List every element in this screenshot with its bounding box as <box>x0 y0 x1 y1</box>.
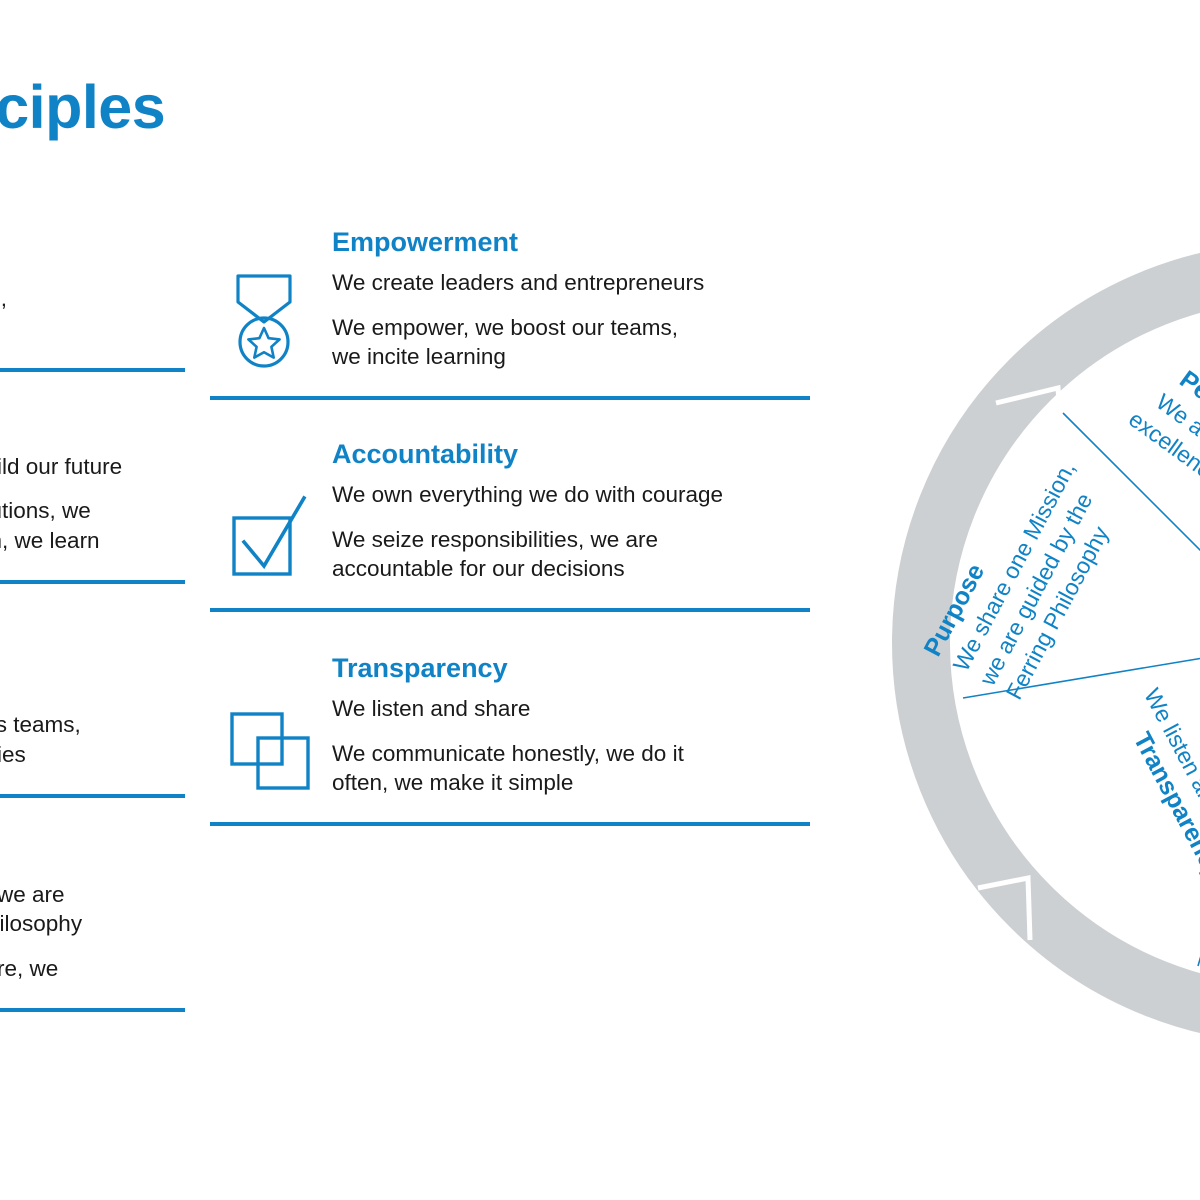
segment-purpose-sub-3: Ferring Philosophy <box>1001 522 1114 704</box>
left-block-2-line-2: olutions, we ion, we learn <box>0 496 185 555</box>
overlapping-squares-icon <box>224 698 320 798</box>
accountability-divider <box>210 608 810 612</box>
checkbox-check-icon <box>224 484 320 584</box>
segment-purpose-title: Purpose <box>919 559 991 661</box>
segment-performance-title: Performance <box>1174 365 1200 478</box>
segment-transparency-title: Transparency <box>1128 728 1200 885</box>
segment-purpose-sub-1: We share one Mission, <box>948 457 1081 675</box>
segment-transparency-sub-1: We listen and share <box>1139 684 1200 875</box>
transparency-block: Transparency We listen and share We comm… <box>210 654 810 826</box>
segment-dividers <box>963 413 1200 966</box>
transparency-line-1: We listen and share <box>332 694 810 723</box>
left-block-3-divider <box>0 794 185 798</box>
empowerment-heading: Empowerment <box>210 228 810 256</box>
segment-purpose-sub-2: we are guided by the <box>974 489 1098 691</box>
transparency-heading: Transparency <box>210 654 810 682</box>
left-block-4-line-2: here, we <box>0 954 185 983</box>
left-block-1-line-1: ce <box>0 240 185 269</box>
segment-purpose: Purpose We share one Mission, we are gui… <box>918 441 1133 704</box>
accountability-line-1: We own everything we do with courage <box>332 480 810 509</box>
left-block-1-divider <box>0 368 185 372</box>
segment-performance-sub-1: We achieve <box>1151 388 1200 479</box>
left-block-3: er oss teams, phies <box>0 654 185 798</box>
accountability-line-2: We seize responsibilities, we are accoun… <box>332 525 810 584</box>
empowerment-line-2: We empower, we boost our teams, we incit… <box>332 313 810 372</box>
inner-wheel <box>963 313 1200 973</box>
left-block-4-divider <box>0 1008 185 1012</box>
segment-transparency: Transparency We listen and share <box>1112 684 1200 890</box>
left-block-2-line-1: build our future <box>0 452 185 481</box>
page-title: principles <box>0 72 165 142</box>
transparency-divider <box>210 822 810 826</box>
ferring-principles-wheel: Ferring Mission Ferring Philosophy Peopl… <box>878 228 1200 1058</box>
left-block-4: n, we are Philosophy here, we <box>0 868 185 1012</box>
left-block-3-line-2: oss teams, phies <box>0 710 185 769</box>
empowerment-block: Empowerment We create leaders and entrep… <box>210 228 810 400</box>
accountability-heading: Accountability <box>210 440 810 468</box>
ring-notch-fill <box>996 388 1063 456</box>
segment-performance: Performance We achieve excellence <box>1124 355 1200 527</box>
accountability-block: Accountability We own everything we do w… <box>210 440 810 612</box>
segment-performance-sub-2: excellence <box>1124 406 1200 491</box>
left-block-2: build our future olutions, we ion, we le… <box>0 440 185 584</box>
outer-ring <box>921 271 1200 1015</box>
medal-icon <box>224 272 320 372</box>
left-block-1-line-2: als, <box>0 284 185 313</box>
empowerment-line-1: We create leaders and entrepreneurs <box>332 268 810 297</box>
ring-arrow-notches <box>978 388 1063 940</box>
transparency-line-2: We communicate honestly, we do it often,… <box>332 739 810 798</box>
left-block-3-line-1: er <box>0 666 185 695</box>
left-block-2-divider <box>0 580 185 584</box>
left-block-1: ce als, <box>0 228 185 372</box>
empowerment-divider <box>210 396 810 400</box>
left-block-4-line-1: n, we are Philosophy <box>0 880 185 939</box>
